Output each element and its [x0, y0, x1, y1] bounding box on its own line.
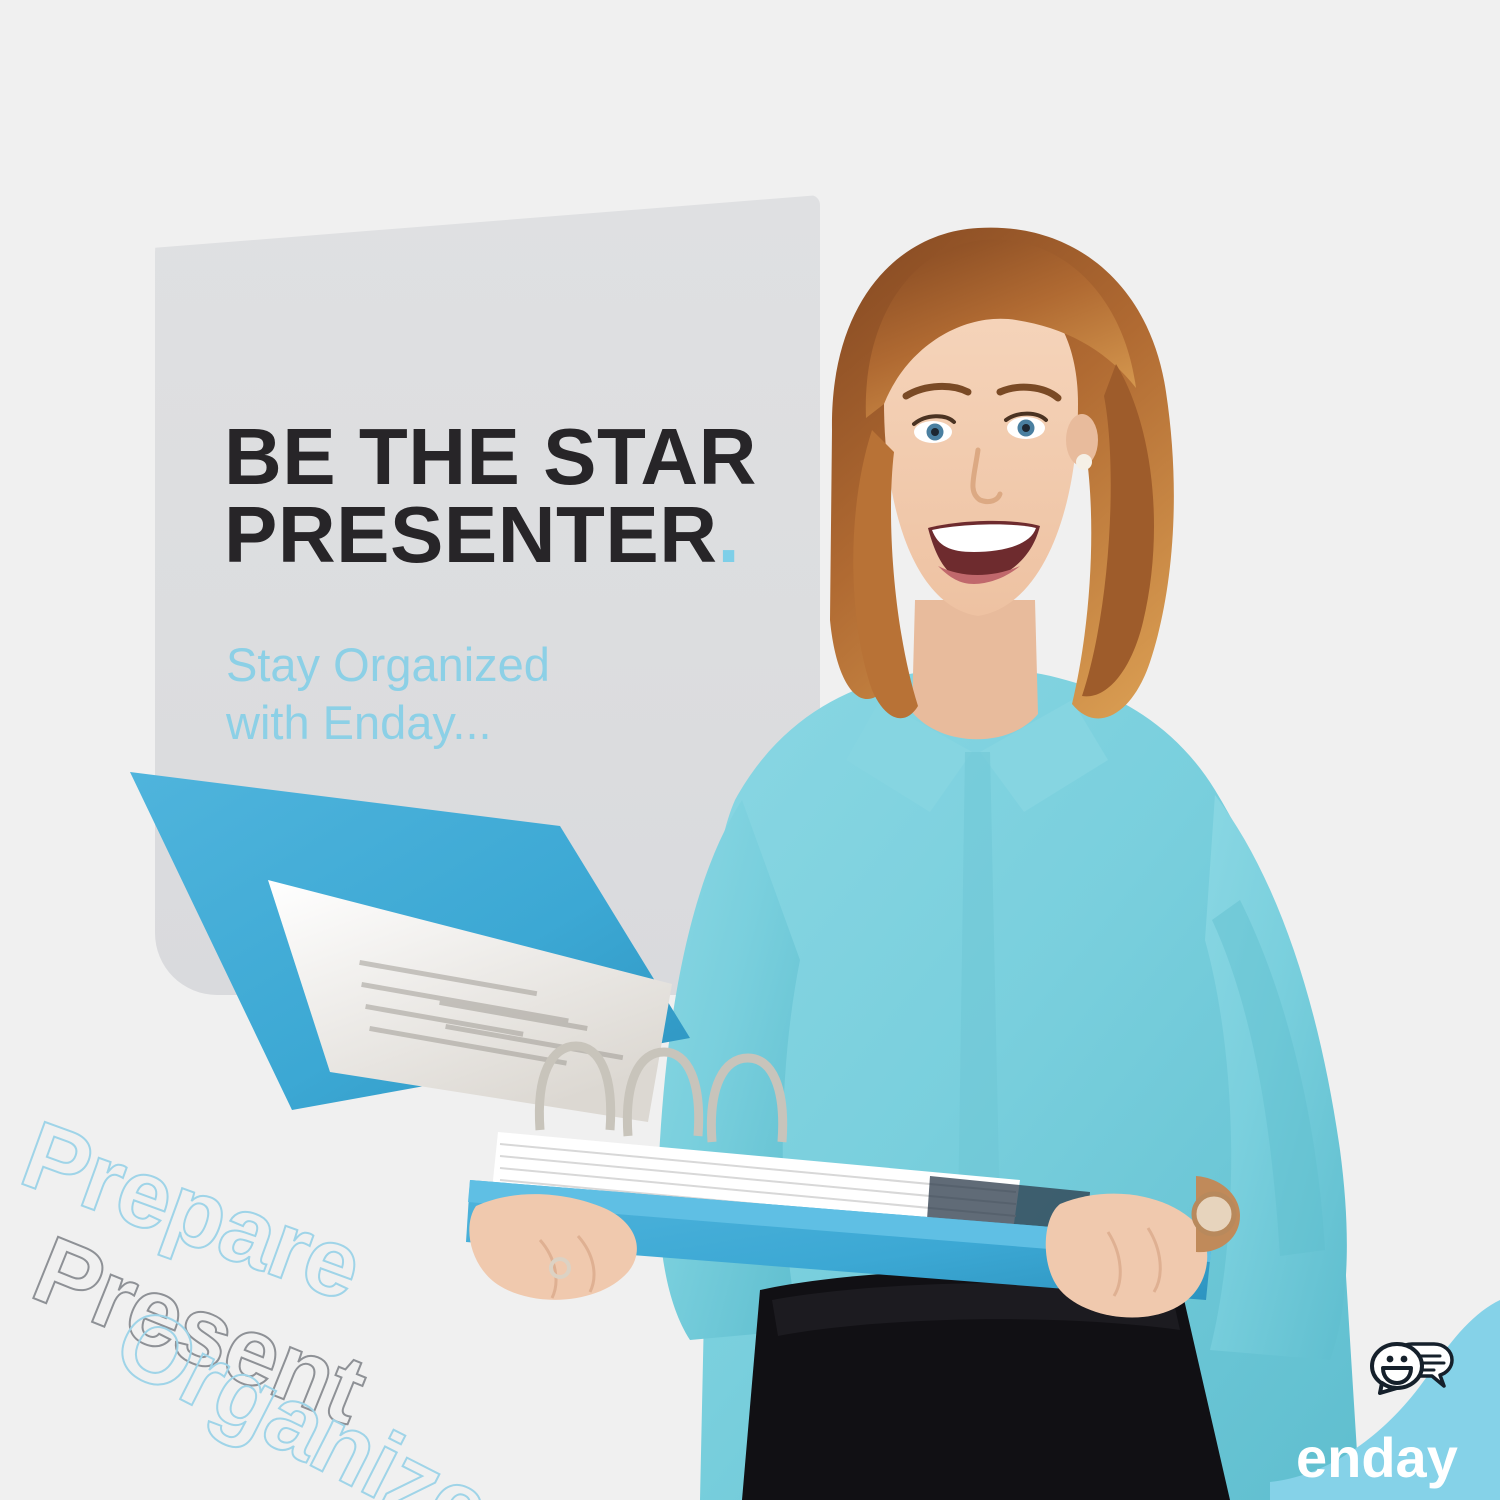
page-subtitle: Stay Organizedwith Enday...: [226, 636, 656, 753]
smiling-speech-bubble-icon: [1366, 1336, 1458, 1400]
headline-accent-period: .: [717, 490, 740, 579]
logo-wordmark: enday: [1296, 1430, 1458, 1486]
page-title: BE THE STARPRESENTER.: [224, 418, 824, 575]
promo-image-canvas: BE THE STARPRESENTER. Stay Organizedwith…: [0, 0, 1500, 1500]
headline-line-1: BE THE STAR: [224, 412, 757, 501]
headline-line-2: PRESENTER: [224, 490, 717, 579]
subhead-line-1: Stay Organized: [226, 638, 550, 691]
brand-logo-badge: enday: [1270, 1300, 1500, 1500]
subhead-line-2: with Enday...: [226, 696, 492, 749]
